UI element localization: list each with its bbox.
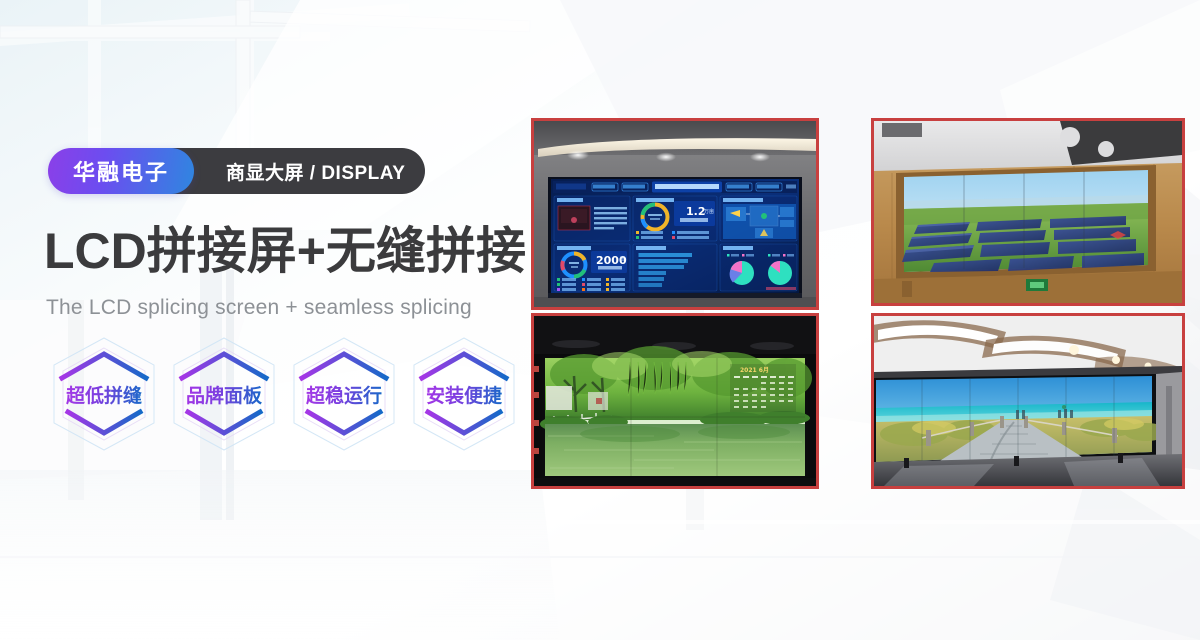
photo-solar-farm-video-wall <box>871 118 1185 306</box>
feature-list: 超低拼缝 品牌面板 <box>48 334 520 454</box>
solar-farm-room-photo <box>874 121 1182 303</box>
dashboard-room-photo: 1.2 万亩 <box>534 121 816 307</box>
photo-beach-boardwalk-video-wall <box>871 313 1185 489</box>
feature-item-2: 品牌面板 <box>168 334 280 454</box>
photo-lakeside-video-wall: 2021 6月 <box>531 313 819 489</box>
brand-badge: 华融电子 <box>48 148 194 194</box>
svg-text:1.2: 1.2 <box>686 205 706 218</box>
svg-text:2021 6月: 2021 6月 <box>740 366 769 374</box>
feature-label: 超低拼缝 <box>66 381 142 408</box>
page-subtitle: The LCD splicing screen + seamless splic… <box>46 296 472 320</box>
beach-boardwalk-lobby-photo <box>874 316 1182 486</box>
page-title: LCD拼接屏+无缝拼接 <box>44 226 526 276</box>
brand-name-label: 华融电子 <box>73 155 169 187</box>
lakeside-screen-photo: 2021 6月 <box>534 316 816 486</box>
feature-item-3: 超稳运行 <box>288 334 400 454</box>
banner-stage: 商显大屏 / DISPLAY 华融电子 LCD拼接屏+无缝拼接 The LCD … <box>0 0 1200 640</box>
svg-text:万亩: 万亩 <box>704 208 714 215</box>
feature-label: 安装便捷 <box>426 381 502 408</box>
feature-label: 品牌面板 <box>186 381 262 408</box>
svg-text:亩: 亩 <box>620 255 625 262</box>
category-badge-label: 商显大屏 / DISPLAY <box>226 158 405 185</box>
feature-label: 超稳运行 <box>306 381 382 408</box>
photo-dashboard-video-wall: 1.2 万亩 <box>531 118 819 310</box>
feature-item-4: 安装便捷 <box>408 334 520 454</box>
feature-item-1: 超低拼缝 <box>48 334 160 454</box>
